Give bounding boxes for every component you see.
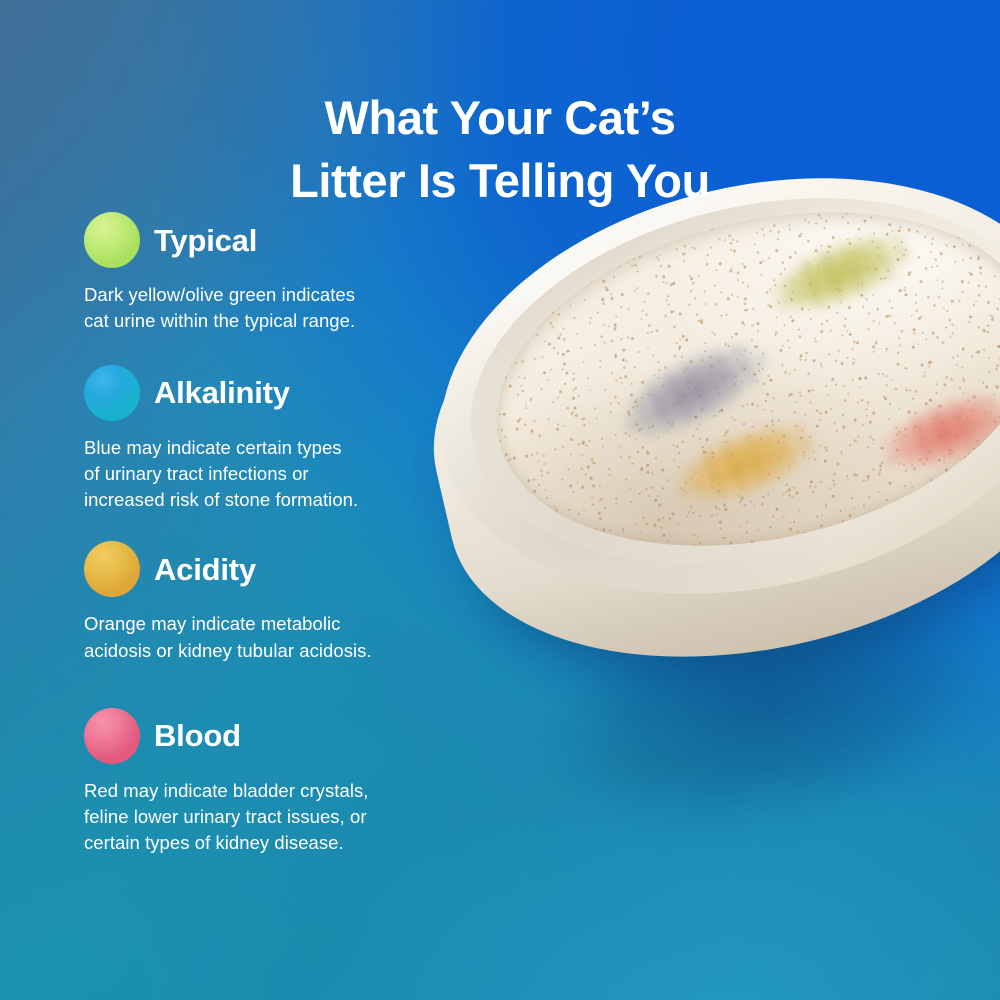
legend-item-typical-header: Typical: [84, 212, 464, 268]
legend-desc-line: Orange may indicate metabolic: [84, 611, 464, 637]
page-title-line-1: What Your Cat’s: [0, 87, 1000, 150]
legend-item-blood-header: Blood: [84, 708, 464, 764]
legend-list: Typical Dark yellow/olive green indicate…: [84, 212, 464, 857]
color-swatch-acidity-icon: [84, 541, 140, 597]
legend-item-typical-title: Typical: [154, 225, 257, 256]
legend-desc-line: increased risk of stone formation.: [84, 487, 464, 513]
legend-item-acidity-title: Acidity: [154, 554, 256, 585]
legend-item-blood-description: Red may indicate bladder crystals, felin…: [84, 778, 464, 857]
legend-item-alkalinity-title: Alkalinity: [154, 377, 290, 408]
legend-item-typical: Typical Dark yellow/olive green indicate…: [84, 212, 464, 335]
legend-desc-line: Blue may indicate certain types: [84, 435, 464, 461]
legend-desc-line: of urinary tract infections or: [84, 461, 464, 487]
legend-item-blood: Blood Red may indicate bladder crystals,…: [84, 708, 464, 857]
legend-desc-line: feline lower urinary tract issues, or: [84, 804, 464, 830]
legend-item-acidity: Acidity Orange may indicate metabolic ac…: [84, 541, 464, 664]
color-swatch-blood-icon: [84, 708, 140, 764]
legend-desc-line: certain types of kidney disease.: [84, 830, 464, 856]
legend-item-typical-description: Dark yellow/olive green indicates cat ur…: [84, 282, 464, 335]
legend-desc-line: acidosis or kidney tubular acidosis.: [84, 638, 464, 664]
legend-desc-line: Dark yellow/olive green indicates: [84, 282, 464, 308]
legend-item-alkalinity-description: Blue may indicate certain types of urina…: [84, 435, 464, 514]
legend-item-acidity-header: Acidity: [84, 541, 464, 597]
legend-item-blood-title: Blood: [154, 720, 241, 751]
legend-desc-line: Red may indicate bladder crystals,: [84, 778, 464, 804]
page-title-line-2: Litter Is Telling You: [0, 150, 1000, 213]
legend-item-alkalinity: Alkalinity Blue may indicate certain typ…: [84, 365, 464, 514]
legend-item-acidity-description: Orange may indicate metabolic acidosis o…: [84, 611, 464, 664]
poster: What Your Cat’s Litter Is Telling You Ty…: [0, 0, 1000, 1000]
color-swatch-alkalinity-icon: [84, 365, 140, 421]
page-title: What Your Cat’s Litter Is Telling You: [0, 87, 1000, 213]
legend-item-alkalinity-header: Alkalinity: [84, 365, 464, 421]
color-swatch-typical-icon: [84, 212, 140, 268]
litter-tray-photo: [430, 208, 1000, 908]
legend-desc-line: cat urine within the typical range.: [84, 308, 464, 334]
